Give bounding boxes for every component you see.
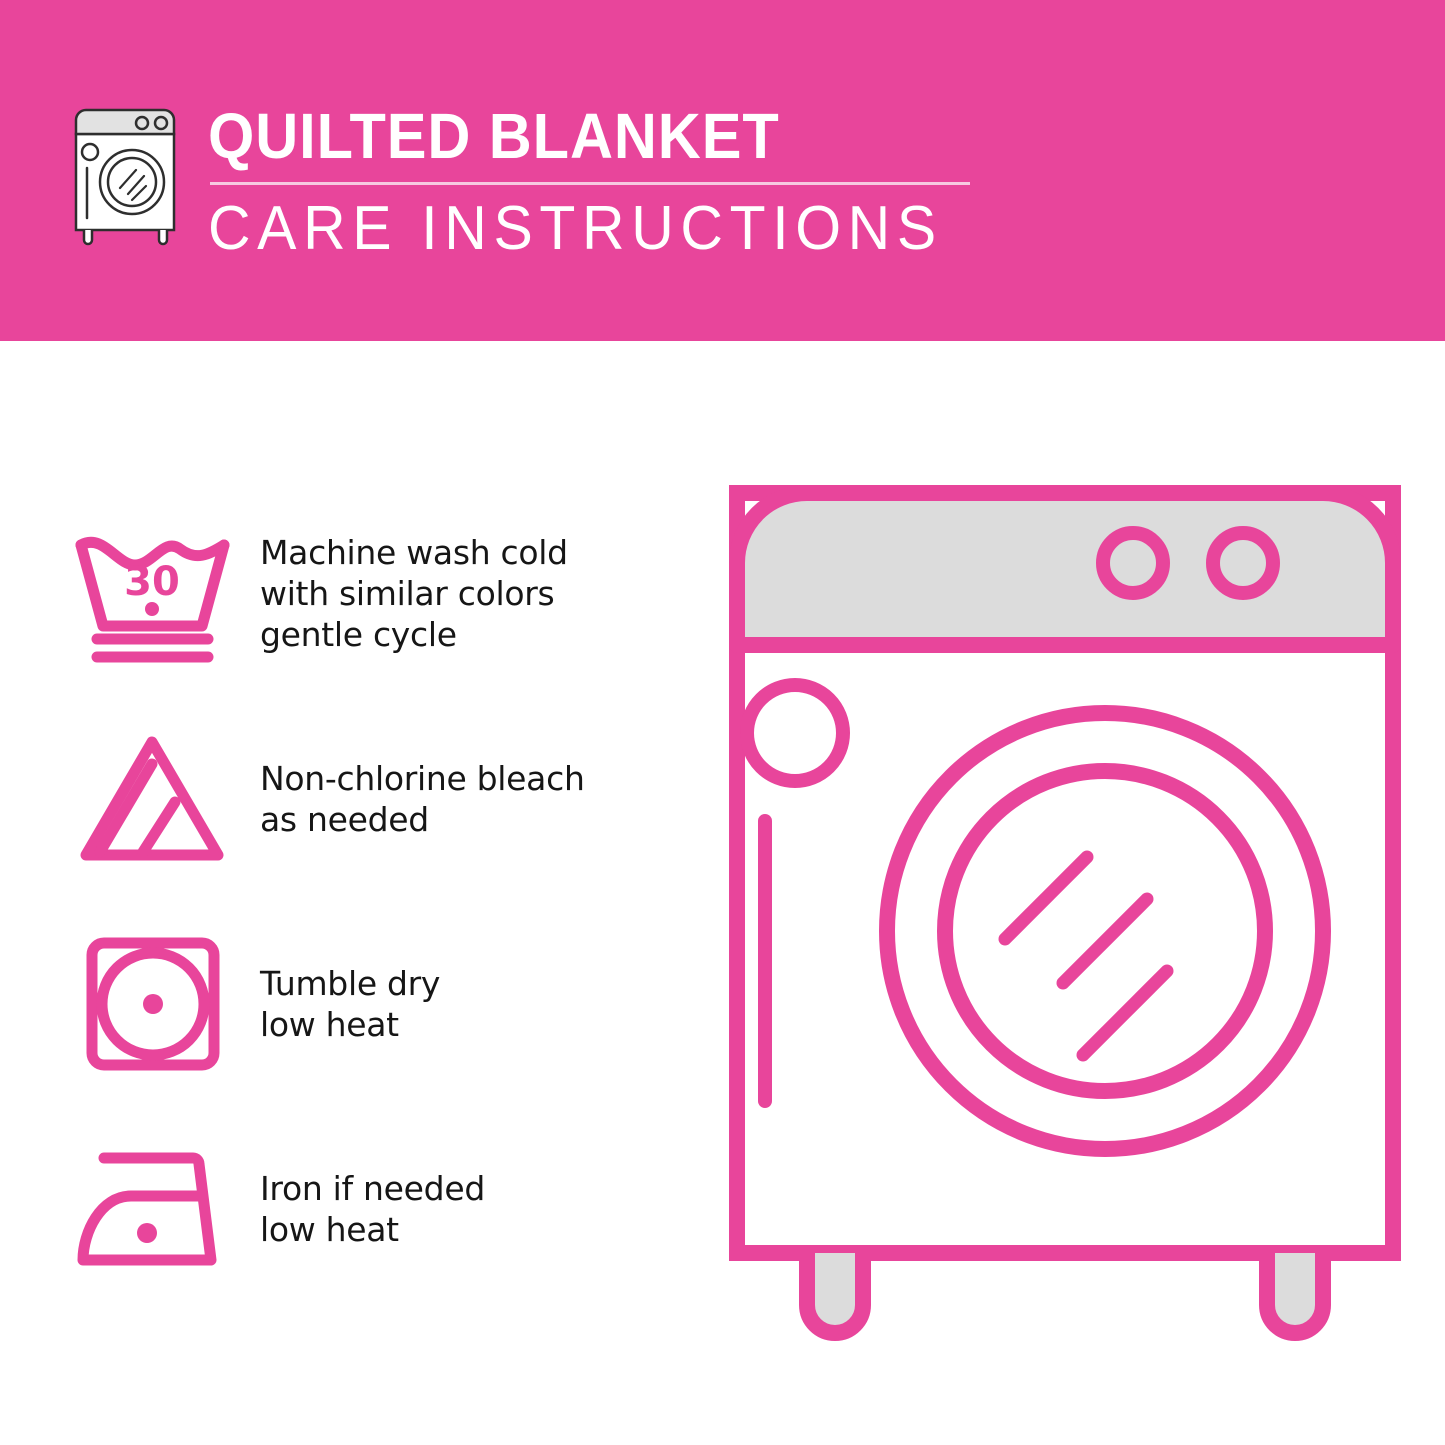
wash-temperature-label: 30 xyxy=(124,559,180,605)
care-line: Tumble dry xyxy=(260,963,440,1004)
care-line: gentle cycle xyxy=(260,614,568,655)
knob-left[interactable] xyxy=(1103,533,1163,593)
care-instruction-list: 30 Machine wash cold with similar colors… xyxy=(65,491,685,1311)
header-content: QUILTED BLANKET CARE INSTRUCTIONS xyxy=(60,100,981,261)
header-title-group: QUILTED BLANKET CARE INSTRUCTIONS xyxy=(208,100,981,261)
iron-low-heat-icon xyxy=(65,1129,240,1289)
page-title: QUILTED BLANKET xyxy=(208,104,927,168)
care-text-iron: Iron if needed low heat xyxy=(260,1168,485,1250)
tumble-dry-low-icon xyxy=(65,924,240,1084)
leg-left xyxy=(807,1253,863,1333)
care-row-bleach: Non-chlorine bleach as needed xyxy=(65,696,685,901)
knob-right[interactable] xyxy=(1213,533,1273,593)
non-chlorine-bleach-triangle-icon xyxy=(65,719,240,879)
care-line: low heat xyxy=(260,1004,440,1045)
care-line: Machine wash cold xyxy=(260,532,568,573)
care-line: Iron if needed xyxy=(260,1168,485,1209)
main-content: 30 Machine wash cold with similar colors… xyxy=(0,341,1445,1445)
header-banner: QUILTED BLANKET CARE INSTRUCTIONS xyxy=(0,0,1445,341)
care-text-wash: Machine wash cold with similar colors ge… xyxy=(260,532,568,655)
leg-right xyxy=(1267,1253,1323,1333)
washing-machine-illustration xyxy=(715,471,1415,1361)
care-row-tumble-dry: Tumble dry low heat xyxy=(65,901,685,1106)
washing-machine-icon xyxy=(60,100,190,250)
care-line: with similar colors xyxy=(260,573,568,614)
wash-tub-30-icon: 30 xyxy=(65,514,240,674)
care-text-tumble-dry: Tumble dry low heat xyxy=(260,963,440,1045)
page-subtitle: CARE INSTRUCTIONS xyxy=(208,197,943,261)
care-line: Non-chlorine bleach xyxy=(260,758,585,799)
title-divider xyxy=(210,182,970,185)
care-row-wash: 30 Machine wash cold with similar colors… xyxy=(65,491,685,696)
care-row-iron: Iron if needed low heat xyxy=(65,1106,685,1311)
control-panel xyxy=(737,493,1393,645)
care-text-bleach: Non-chlorine bleach as needed xyxy=(260,758,585,840)
care-line: as needed xyxy=(260,799,585,840)
care-line: low heat xyxy=(260,1209,485,1250)
